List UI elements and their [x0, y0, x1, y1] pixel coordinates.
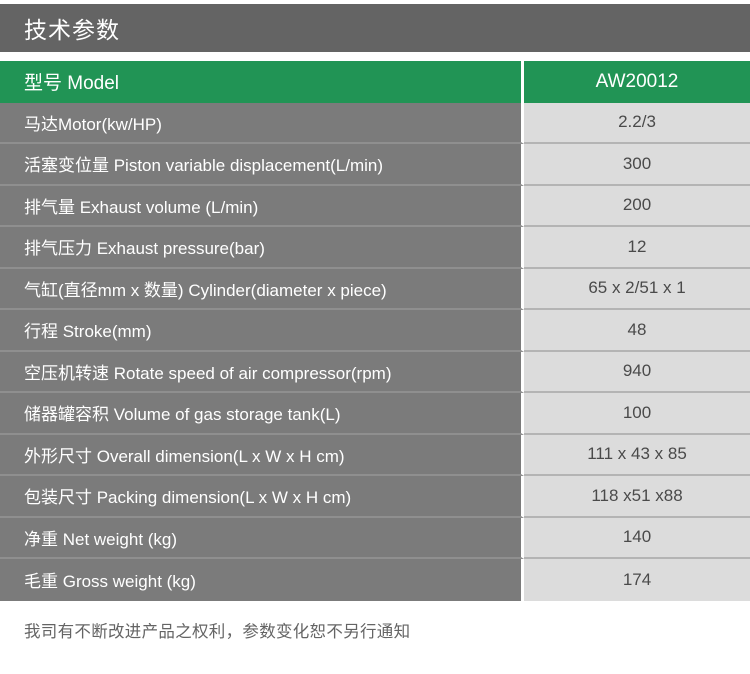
table-row: 排气压力 Exhaust pressure(bar) 12	[0, 227, 750, 269]
spec-value: 48	[524, 310, 750, 352]
table-header-row: 型号 Model AW20012	[0, 61, 750, 103]
table-row: 净重 Net weight (kg) 140	[0, 518, 750, 560]
spec-label: 储器罐容积 Volume of gas storage tank(L)	[0, 393, 524, 435]
spec-label: 活塞变位量 Piston variable displacement(L/min…	[0, 144, 524, 186]
spec-label: 外形尺寸 Overall dimension(L x W x H cm)	[0, 435, 524, 477]
table-header-label: 型号 Model	[0, 61, 524, 103]
table-row: 毛重 Gross weight (kg) 174	[0, 559, 750, 601]
table-row: 包装尺寸 Packing dimension(L x W x H cm) 118…	[0, 476, 750, 518]
table-row: 外形尺寸 Overall dimension(L x W x H cm) 111…	[0, 435, 750, 477]
specifications-table: 型号 Model AW20012 马达Motor(kw/HP) 2.2/3 活塞…	[0, 61, 750, 601]
spec-value: 174	[524, 559, 750, 601]
table-header-value: AW20012	[524, 61, 750, 103]
spec-label: 空压机转速 Rotate speed of air compressor(rpm…	[0, 352, 524, 394]
specifications-table-body: 型号 Model AW20012 马达Motor(kw/HP) 2.2/3 活塞…	[0, 61, 750, 601]
page-title: 技术参数	[24, 11, 120, 45]
spec-value: 12	[524, 227, 750, 269]
spec-value: 111 x 43 x 85	[524, 435, 750, 477]
spec-value: 200	[524, 186, 750, 228]
table-row: 马达Motor(kw/HP) 2.2/3	[0, 103, 750, 145]
spec-value: 140	[524, 518, 750, 560]
table-row: 气缸(直径mm x 数量) Cylinder(diameter x piece)…	[0, 269, 750, 311]
spec-value: 100	[524, 393, 750, 435]
spec-value: 940	[524, 352, 750, 394]
spec-label: 行程 Stroke(mm)	[0, 310, 524, 352]
spec-sheet: 技术参数 型号 Model AW20012 马达Motor(kw/HP) 2.2…	[0, 0, 750, 674]
table-row: 活塞变位量 Piston variable displacement(L/min…	[0, 144, 750, 186]
table-row: 空压机转速 Rotate speed of air compressor(rpm…	[0, 352, 750, 394]
table-row: 储器罐容积 Volume of gas storage tank(L) 100	[0, 393, 750, 435]
spec-label: 排气压力 Exhaust pressure(bar)	[0, 227, 524, 269]
footer-disclaimer: 我司有不断改进产品之权利，参数变化恕不另行通知	[24, 618, 410, 642]
spec-value: 2.2/3	[524, 103, 750, 145]
spec-label: 毛重 Gross weight (kg)	[0, 559, 524, 601]
spec-value: 118 x51 x88	[524, 476, 750, 518]
spec-label: 马达Motor(kw/HP)	[0, 103, 524, 145]
spec-label: 气缸(直径mm x 数量) Cylinder(diameter x piece)	[0, 269, 524, 311]
spec-label: 排气量 Exhaust volume (L/min)	[0, 186, 524, 228]
spec-value: 65 x 2/51 x 1	[524, 269, 750, 311]
section-title-band: 技术参数	[0, 4, 750, 52]
spec-label: 包装尺寸 Packing dimension(L x W x H cm)	[0, 476, 524, 518]
table-row: 排气量 Exhaust volume (L/min) 200	[0, 186, 750, 228]
spec-label: 净重 Net weight (kg)	[0, 518, 524, 560]
spec-value: 300	[524, 144, 750, 186]
table-row: 行程 Stroke(mm) 48	[0, 310, 750, 352]
